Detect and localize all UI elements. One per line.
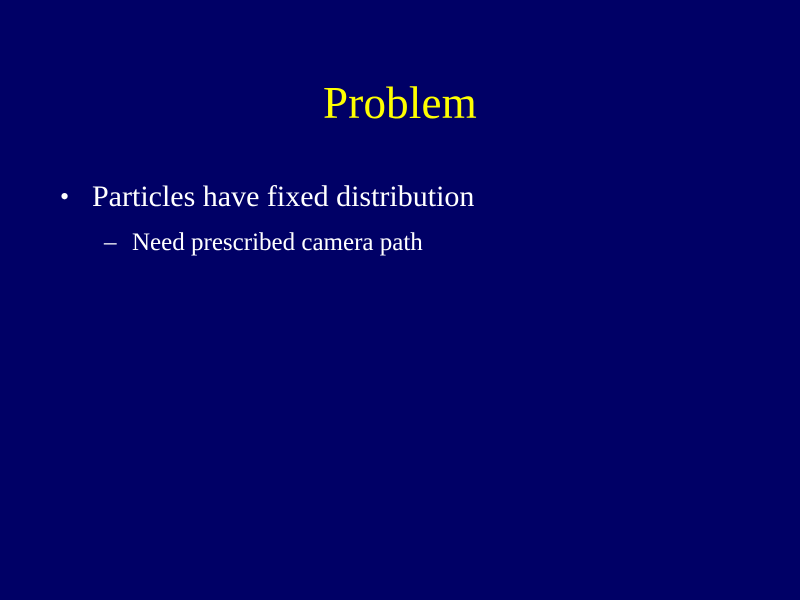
round-bullet-icon: •	[60, 178, 92, 216]
slide-title: Problem	[0, 76, 800, 130]
presentation-slide: Problem • Particles have fixed distribut…	[0, 0, 800, 600]
slide-body: • Particles have fixed distribution – Ne…	[0, 178, 800, 260]
bullet-text-level-2: Need prescribed camera path	[132, 226, 423, 260]
dash-bullet-icon: –	[104, 226, 132, 260]
list-item: – Need prescribed camera path	[0, 226, 800, 260]
list-item: • Particles have fixed distribution	[0, 178, 800, 216]
bullet-text-level-1: Particles have fixed distribution	[92, 178, 474, 216]
